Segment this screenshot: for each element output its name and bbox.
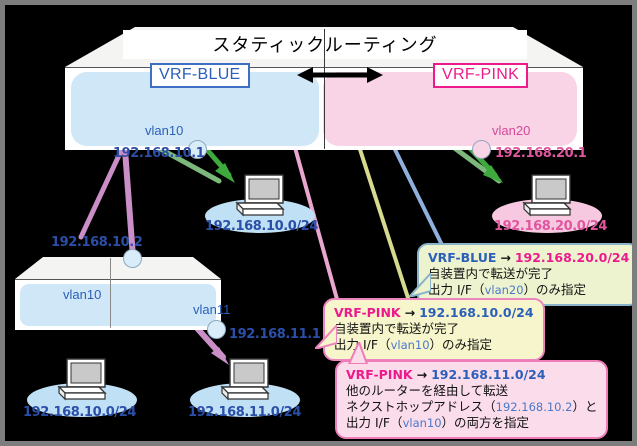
- callout-line2: 自装置内で転送が完了: [334, 321, 534, 337]
- callout-route-line: VRF-PINK → 192.168.11.0/24: [346, 367, 597, 383]
- ip-192-168-10-2: 192.168.10.2: [51, 235, 142, 250]
- vrf-blue-tag: VRF-BLUE: [150, 63, 250, 88]
- computer-icon: [518, 173, 576, 219]
- callout-route-src: VRF-PINK: [346, 367, 413, 382]
- callout-line3-ip: 192.168.10.2: [496, 400, 573, 414]
- host-label-192-168-11-0-bottom: 192.168.11.0/24: [188, 405, 301, 420]
- callout-vrf-blue-to-20: VRF-BLUE → 192.168.20.0/24 自装置内で転送が完了 出力…: [417, 243, 637, 306]
- callout-arrow-icon: →: [500, 250, 510, 265]
- callout-arrow-icon: →: [405, 305, 415, 320]
- callout-route-dst: 192.168.10.0/24: [419, 305, 533, 320]
- callout-route-line: VRF-PINK → 192.168.10.0/24: [334, 305, 534, 321]
- callout-line3-b: ）のみ指定: [430, 337, 493, 352]
- vlan10-label-top: vlan10: [145, 123, 183, 138]
- callout-line3-vlan: vlan10: [391, 338, 430, 352]
- computer-icon: [216, 357, 274, 403]
- vlan11-label-bottom: vlan11: [193, 302, 230, 317]
- callout-line3-a: ネクストホップアドレス（: [346, 399, 496, 414]
- router-body: [15, 279, 221, 330]
- callout-line3: 出力 I/F（vlan20）のみ指定: [428, 282, 629, 298]
- bottom-router-chassis: [15, 257, 221, 329]
- callout-line4: 出力 I/F（vlan10）の両方を指定: [346, 415, 597, 431]
- callout-line3-vlan: vlan20: [485, 283, 524, 297]
- host-label-192-168-10-0-bottom: 192.168.10.0/24: [23, 405, 136, 420]
- router-vlan-zone: [20, 284, 216, 326]
- callout-tail-pink-10: [315, 325, 337, 349]
- ip-192-168-10-1: 192.168.10.1: [113, 146, 204, 161]
- diagram-canvas: スタティックルーティング VRF-BLUE VRF-PINK vlan10 19…: [0, 0, 637, 446]
- callout-line3-a: 出力 I/F（: [428, 282, 485, 297]
- vlan10-label-bottom: vlan10: [63, 287, 101, 302]
- computer-icon: [53, 357, 111, 403]
- ip-192-168-11-1: 192.168.11.1: [229, 327, 320, 342]
- callout-tail-pink-11: [345, 342, 369, 364]
- callout-line3: ネクストホップアドレス（192.168.10.2）と: [346, 399, 597, 415]
- vrf-divider-line: [324, 29, 325, 149]
- iface-dot-192-168-10-2: [123, 249, 142, 268]
- callout-tail-blue: [409, 273, 431, 297]
- callout-line2: 自装置内で転送が完了: [428, 266, 629, 282]
- host-label-192-168-20-0: 192.168.20.0/24: [494, 219, 607, 234]
- callout-line3-b: ）のみ指定: [524, 282, 587, 297]
- computer-icon: [231, 173, 289, 219]
- callout-line4-a: 出力 I/F（: [346, 415, 403, 430]
- page-title: スタティックルーティング: [123, 31, 527, 57]
- iface-dot-vlan11: [207, 320, 226, 339]
- callout-line3-b: ）と: [572, 399, 597, 414]
- vrf-pink-tag: VRF-PINK: [433, 63, 528, 88]
- callout-line4-b: ）の両方を指定: [442, 415, 530, 430]
- callout-route-dst: 192.168.20.0/24: [515, 250, 629, 265]
- callout-route-src: VRF-BLUE: [428, 250, 496, 265]
- bottom-router-divider: [110, 258, 111, 328]
- iface-dot-vlan20-top: [472, 140, 491, 159]
- callout-arrow-icon: →: [417, 367, 427, 382]
- callout-route-line: VRF-BLUE → 192.168.20.0/24: [428, 250, 629, 266]
- callout-line4-vlan: vlan10: [403, 416, 442, 430]
- callout-vrf-pink-to-11: VRF-PINK → 192.168.11.0/24 他のルーターを経由して転送…: [335, 360, 608, 439]
- double-headed-arrow-icon: [297, 65, 383, 85]
- host-label-192-168-10-0: 192.168.10.0/24: [205, 219, 318, 234]
- callout-route-dst: 192.168.11.0/24: [431, 367, 545, 382]
- router-lid: [15, 257, 221, 280]
- callout-route-src: VRF-PINK: [334, 305, 401, 320]
- ip-192-168-20-1: 192.168.20.1: [495, 146, 586, 161]
- callout-line2: 他のルーターを経由して転送: [346, 383, 597, 399]
- vlan20-label-top: vlan20: [492, 123, 530, 138]
